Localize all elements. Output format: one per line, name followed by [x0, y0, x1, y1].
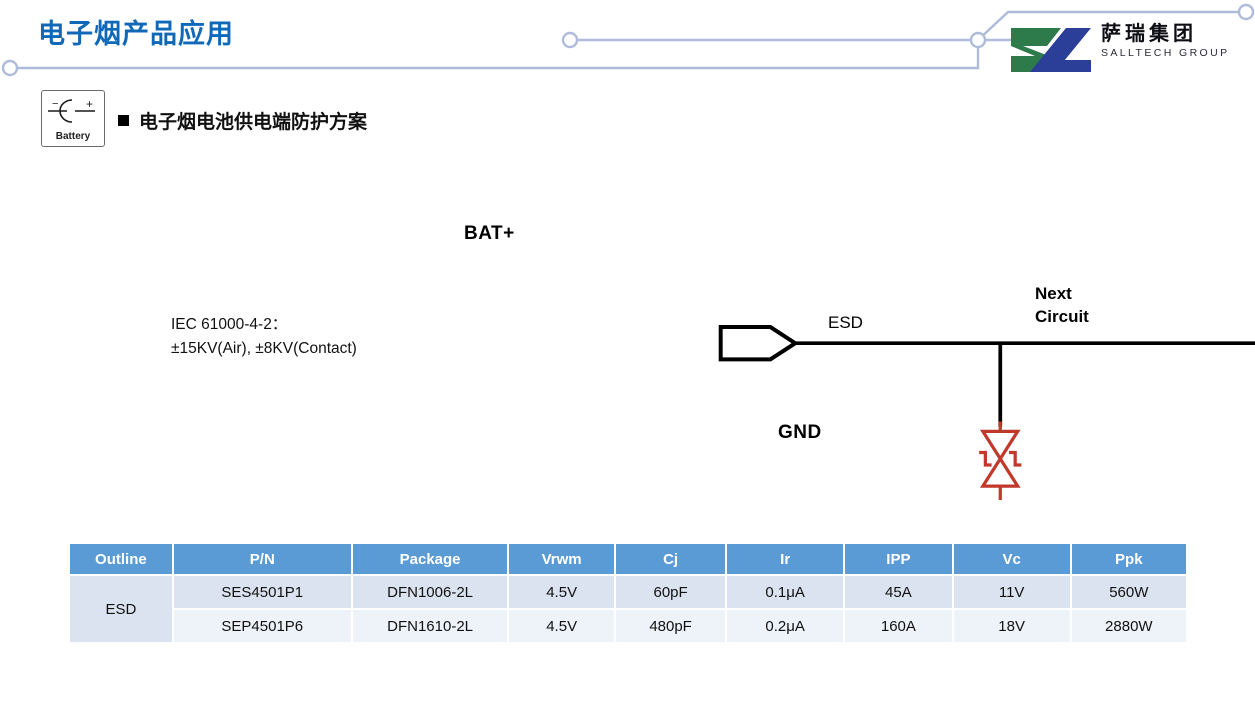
slide-canvas: 电子烟产品应用 萨瑞集团 SALLTECH GROUP − + Battery … — [0, 0, 1255, 705]
cell-package: DFN1006-2L — [353, 574, 510, 608]
cell-vrwm: 4.5V — [509, 608, 616, 642]
cell-vc: 18V — [954, 608, 1072, 642]
col-header-cj: Cj — [616, 544, 727, 574]
col-header-ppk: Ppk — [1072, 544, 1186, 574]
col-header-outline: Outline — [70, 544, 174, 574]
cell-cj: 480pF — [616, 608, 727, 642]
protection-circuit-diagram — [0, 0, 1255, 500]
cell-pn: SEP4501P6 — [174, 608, 353, 642]
col-header-package: Package — [353, 544, 510, 574]
esd-tvs-diode-icon — [979, 421, 1021, 500]
col-header-vc: Vc — [954, 544, 1072, 574]
col-header-ipp: IPP — [845, 544, 954, 574]
cell-ipp: 160A — [845, 608, 954, 642]
gnd-label: GND — [778, 422, 822, 444]
cell-cj: 60pF — [616, 574, 727, 608]
cell-outline-esd: ESD — [70, 574, 174, 642]
cell-ir: 0.1μA — [727, 574, 845, 608]
table-row: ESD SES4501P1 DFN1006-2L 4.5V 60pF 0.1μA… — [70, 574, 1186, 608]
table-row: SEP4501P6 DFN1610-2L 4.5V 480pF 0.2μA 16… — [70, 608, 1186, 642]
col-header-ir: Ir — [727, 544, 845, 574]
cell-ppk: 560W — [1072, 574, 1186, 608]
col-header-vrwm: Vrwm — [509, 544, 616, 574]
col-header-pn: P/N — [174, 544, 353, 574]
cell-package: DFN1610-2L — [353, 608, 510, 642]
cell-ir: 0.2μA — [727, 608, 845, 642]
bat-connector-icon — [721, 327, 796, 359]
esd-label: ESD — [828, 313, 863, 333]
cell-ppk: 2880W — [1072, 608, 1186, 642]
cell-vrwm: 4.5V — [509, 574, 616, 608]
bat-plus-label: BAT+ — [464, 223, 515, 245]
table-header-row: Outline P/N Package Vrwm Cj Ir IPP Vc Pp… — [70, 544, 1186, 574]
spec-table: Outline P/N Package Vrwm Cj Ir IPP Vc Pp… — [70, 544, 1186, 642]
cell-pn: SES4501P1 — [174, 574, 353, 608]
next-circuit-label: Next Circuit — [1035, 282, 1127, 328]
cell-vc: 11V — [954, 574, 1072, 608]
cell-ipp: 45A — [845, 574, 954, 608]
